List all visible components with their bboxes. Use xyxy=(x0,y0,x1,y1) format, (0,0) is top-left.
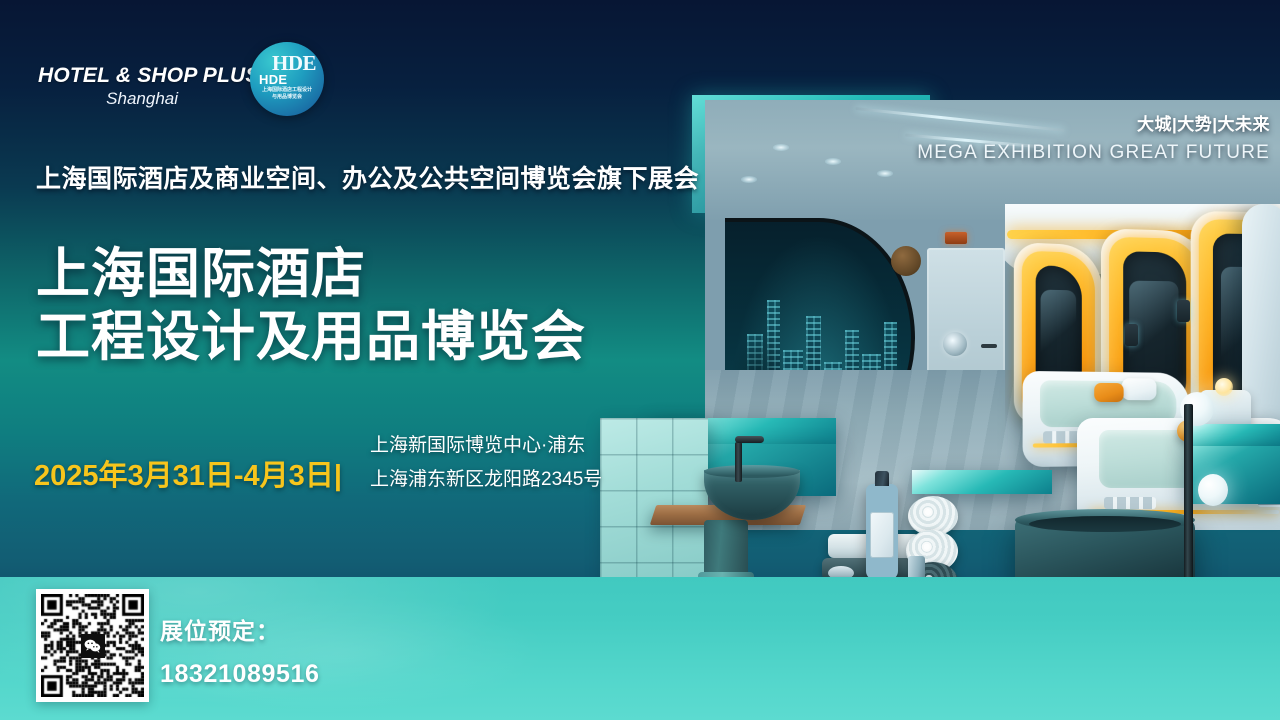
hde-badge[interactable]: HDE HDE 上海国际酒店工程设计 与用品博览会 xyxy=(250,42,324,116)
booking-label: 展位预定： xyxy=(160,612,320,646)
promo-banner: HOTEL & SHOP PLUS Shanghai HDE HDE 上海国际酒… xyxy=(0,0,1280,720)
event-subtitle: 上海国际酒店及商业空间、办公及公共空间博览会旗下展会 xyxy=(36,159,699,195)
hde-wordmark: HDE xyxy=(259,72,287,87)
booking-phone[interactable]: 18321089516 xyxy=(160,660,320,689)
wechat-icon xyxy=(81,634,105,658)
venue-line-1: 上海新国际博览中心·浦东 xyxy=(370,429,602,463)
hde-chinese-caption: 上海国际酒店工程设计 与用品博览会 xyxy=(258,87,316,101)
accent-slab xyxy=(1184,424,1280,446)
event-venue: 上海新国际博览中心·浦东 上海浦东新区龙阳路2345号 xyxy=(370,429,602,497)
slogan-chinese: 大城|大势|大未来 xyxy=(840,110,1270,135)
qr-code-icon[interactable] xyxy=(36,589,149,702)
venue-line-2: 上海浦东新区龙阳路2345号 xyxy=(370,463,602,497)
bathroom-tile-wall xyxy=(600,418,708,586)
title-line-2: 工程设计及用品博览会 xyxy=(36,306,586,369)
faucet-icon xyxy=(735,442,742,482)
event-date: 2025年3月31日-4月3日| xyxy=(34,452,342,494)
wall-art-disc xyxy=(891,246,921,276)
floor-lamp-globe xyxy=(1198,474,1228,506)
brand-name: HOTEL & SHOP PLUS xyxy=(38,64,188,88)
brand-wordmark: HOTEL & SHOP PLUS Shanghai xyxy=(38,64,188,109)
exit-sign xyxy=(945,232,967,244)
brand-city: Shanghai xyxy=(38,89,188,109)
booking-info: 展位预定： 18321089516 xyxy=(160,612,320,689)
page-title: 上海国际酒店 工程设计及用品博览会 xyxy=(36,243,586,369)
title-line-1: 上海国际酒店 xyxy=(36,243,586,306)
amenity-bottle xyxy=(866,484,898,580)
accent-slab xyxy=(912,470,1052,494)
slogan-english: MEGA EXHIBITION GREAT FUTURE xyxy=(840,142,1270,164)
event-slogan: 大城|大势|大未来 MEGA EXHIBITION GREAT FUTURE xyxy=(840,110,1270,164)
